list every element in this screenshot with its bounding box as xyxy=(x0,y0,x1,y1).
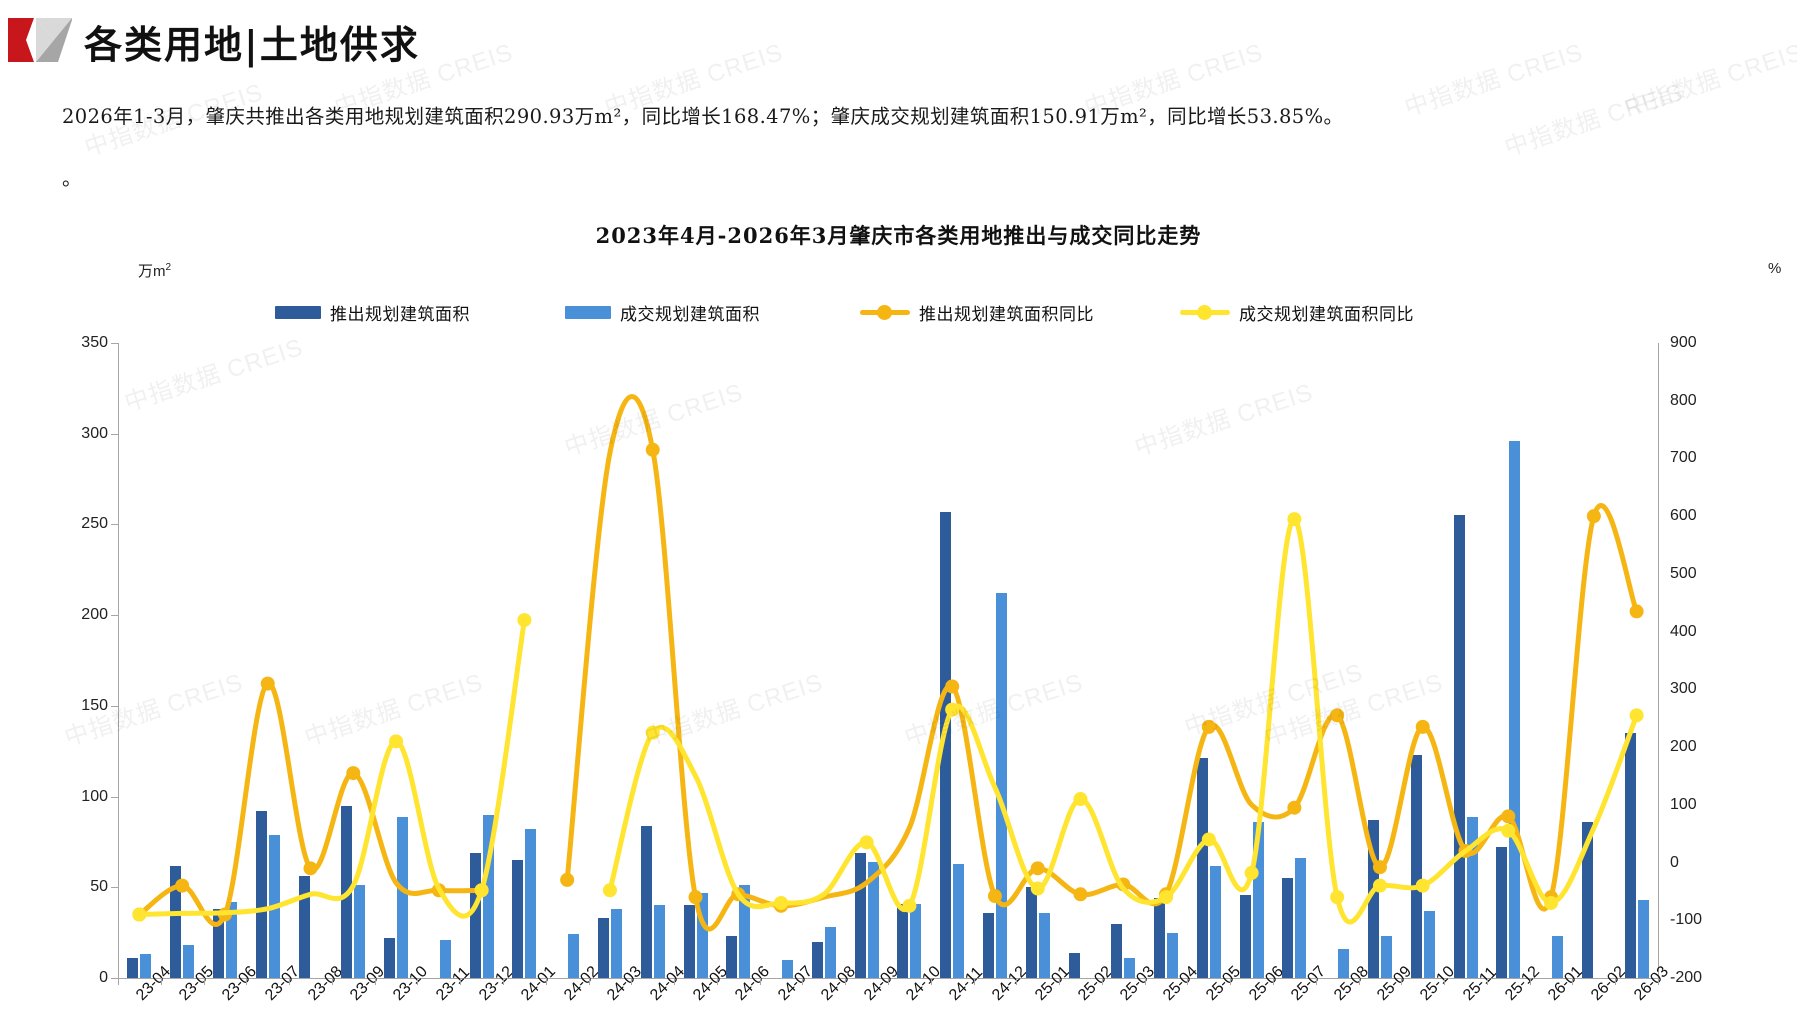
line-marker-supply-yoy xyxy=(560,873,574,887)
line-marker-supply-yoy xyxy=(175,879,189,893)
x-tick xyxy=(246,978,247,985)
x-tick xyxy=(802,978,803,985)
line-marker-deal-yoy xyxy=(603,883,617,897)
line-deal-yoy xyxy=(139,620,524,916)
x-tick xyxy=(589,978,590,985)
y-axis-right-tick-label: 500 xyxy=(1670,565,1697,583)
x-tick xyxy=(161,978,162,985)
line-supply-yoy xyxy=(139,683,481,924)
legend-item-1[interactable]: 成交规划建筑面积 xyxy=(565,297,760,327)
legend-label: 成交规划建筑面积同比 xyxy=(1239,300,1414,325)
line-marker-deal-yoy xyxy=(1287,512,1301,526)
line-marker-deal-yoy xyxy=(1544,896,1558,910)
legend-line-marker-icon xyxy=(877,305,892,320)
x-tick xyxy=(332,978,333,985)
x-tick xyxy=(118,978,119,985)
summary-paragraph-continuation: 。 xyxy=(62,162,82,191)
line-marker-supply-yoy xyxy=(1074,887,1088,901)
legend-line-swatch-icon xyxy=(1180,305,1230,319)
x-tick xyxy=(1273,978,1274,985)
line-marker-deal-yoy xyxy=(774,896,788,910)
line-marker-supply-yoy xyxy=(261,677,275,691)
x-tick xyxy=(760,978,761,985)
line-marker-deal-yoy xyxy=(945,703,959,717)
line-marker-supply-yoy xyxy=(346,766,360,780)
line-marker-supply-yoy xyxy=(1587,509,1601,523)
line-marker-deal-yoy xyxy=(1074,792,1088,806)
line-marker-supply-yoy xyxy=(689,890,703,904)
chart-container: 2023年4月-2026年3月肇庆市各类用地推出与成交同比走势 万m2 % 推出… xyxy=(0,205,1797,1005)
line-marker-deal-yoy xyxy=(1630,708,1644,722)
line-marker-deal-yoy xyxy=(517,613,531,627)
x-tick xyxy=(417,978,418,985)
legend-item-0[interactable]: 推出规划建筑面积 xyxy=(275,297,470,327)
x-tick xyxy=(845,978,846,985)
line-marker-deal-yoy xyxy=(389,734,403,748)
summary-paragraph: 2026年1-3月，肇庆共推出各类用地规划建筑面积290.93万m²，同比增长1… xyxy=(62,100,1762,134)
x-tick xyxy=(503,978,504,985)
y-axis-right-tick-label: 400 xyxy=(1670,623,1697,641)
y-axis-left-tick-label: 50 xyxy=(90,878,108,896)
x-tick xyxy=(888,978,889,985)
line-marker-deal-yoy xyxy=(1373,879,1387,893)
line-marker-deal-yoy xyxy=(132,908,146,922)
line-marker-deal-yoy xyxy=(902,899,916,913)
line-marker-supply-yoy xyxy=(1287,801,1301,815)
x-tick xyxy=(674,978,675,985)
chart-legend: 推出规划建筑面积成交规划建筑面积推出规划建筑面积同比成交规划建筑面积同比 xyxy=(275,297,1525,327)
x-tick xyxy=(1615,978,1616,985)
y-axis-right-tick-label: -200 xyxy=(1670,969,1702,987)
y-axis-right-tick-label: 300 xyxy=(1670,680,1697,698)
legend-line-swatch-icon xyxy=(860,305,910,319)
brand-logo-icon xyxy=(8,18,72,62)
x-tick xyxy=(1658,978,1659,985)
y-axis-right-tick-label: 800 xyxy=(1670,392,1697,410)
line-marker-deal-yoy xyxy=(860,835,874,849)
legend-bar-swatch-icon xyxy=(565,306,611,319)
x-tick xyxy=(1444,978,1445,985)
line-marker-supply-yoy xyxy=(1630,604,1644,618)
line-marker-deal-yoy xyxy=(1416,879,1430,893)
x-tick xyxy=(1016,978,1017,985)
line-marker-deal-yoy xyxy=(1031,882,1045,896)
x-tick xyxy=(974,978,975,985)
y-axis-right xyxy=(1658,343,1659,978)
legend-line-marker-icon xyxy=(1197,305,1212,320)
y-axis-right-tick-label: 900 xyxy=(1670,334,1697,352)
x-tick xyxy=(1316,978,1317,985)
x-tick xyxy=(931,978,932,985)
line-marker-deal-yoy xyxy=(1501,824,1515,838)
y-axis-right-tick-label: 700 xyxy=(1670,449,1697,467)
chart-title: 2023年4月-2026年3月肇庆市各类用地推出与成交同比走势 xyxy=(0,220,1797,250)
y-axis-left-tick-label: 200 xyxy=(81,606,108,624)
y-tick-left xyxy=(111,706,118,707)
x-tick xyxy=(1230,978,1231,985)
line-marker-supply-yoy xyxy=(1031,861,1045,875)
x-tick xyxy=(1059,978,1060,985)
x-tick xyxy=(1145,978,1146,985)
y-axis-right-tick-label: 100 xyxy=(1670,796,1697,814)
x-tick xyxy=(1187,978,1188,985)
legend-label: 推出规划建筑面积同比 xyxy=(919,300,1094,325)
x-tick xyxy=(717,978,718,985)
y-axis-left-tick-label: 0 xyxy=(99,969,108,987)
line-marker-deal-yoy xyxy=(646,726,660,740)
line-marker-supply-yoy xyxy=(1501,809,1515,823)
line-series-layer xyxy=(118,343,1658,978)
x-tick xyxy=(546,978,547,985)
x-tick xyxy=(1359,978,1360,985)
x-tick xyxy=(1530,978,1531,985)
y-axis-left-tick-label: 300 xyxy=(81,425,108,443)
line-marker-supply-yoy xyxy=(304,861,318,875)
line-marker-supply-yoy xyxy=(1416,720,1430,734)
y-axis-right-tick-label: 600 xyxy=(1670,507,1697,525)
x-tick xyxy=(1102,978,1103,985)
line-marker-supply-yoy xyxy=(1373,860,1387,874)
y-axis-right-tick-label: -100 xyxy=(1670,911,1702,929)
page-header: 各类用地|土地供求 xyxy=(0,0,1797,80)
line-marker-supply-yoy xyxy=(646,443,660,457)
x-tick xyxy=(460,978,461,985)
right-axis-unit-label: % xyxy=(1768,260,1781,277)
y-axis-left-tick-label: 150 xyxy=(81,697,108,715)
y-axis-right-tick-label: 200 xyxy=(1670,738,1697,756)
y-tick-left xyxy=(111,343,118,344)
page-title: 各类用地|土地供求 xyxy=(84,14,420,69)
line-deal-yoy xyxy=(610,519,1637,922)
line-marker-deal-yoy xyxy=(1159,890,1173,904)
y-axis-right-tick-label: 0 xyxy=(1670,854,1679,872)
x-tick xyxy=(1572,978,1573,985)
line-marker-supply-yoy xyxy=(1330,708,1344,722)
line-marker-deal-yoy xyxy=(1202,832,1216,846)
line-marker-supply-yoy xyxy=(988,889,1002,903)
line-marker-supply-yoy xyxy=(1202,720,1216,734)
y-tick-left xyxy=(111,434,118,435)
legend-label: 推出规划建筑面积 xyxy=(330,300,470,325)
y-tick-left xyxy=(111,978,118,979)
legend-item-2[interactable]: 推出规划建筑面积同比 xyxy=(860,297,1094,327)
line-supply-yoy xyxy=(567,397,1636,930)
x-tick xyxy=(631,978,632,985)
y-tick-left xyxy=(111,887,118,888)
line-marker-deal-yoy xyxy=(1330,890,1344,904)
legend-label: 成交规划建筑面积 xyxy=(620,300,760,325)
line-marker-deal-yoy xyxy=(1245,866,1259,880)
line-marker-deal-yoy xyxy=(475,883,489,897)
y-axis-left-tick-label: 250 xyxy=(81,515,108,533)
x-tick xyxy=(1401,978,1402,985)
legend-item-3[interactable]: 成交规划建筑面积同比 xyxy=(1180,297,1414,327)
line-marker-supply-yoy xyxy=(945,679,959,693)
plot-area: 050100150200250300350-200-10001002003004… xyxy=(118,343,1658,978)
x-tick xyxy=(1487,978,1488,985)
left-axis-unit-label: 万m2 xyxy=(138,260,171,281)
x-tick xyxy=(375,978,376,985)
y-tick-left xyxy=(111,615,118,616)
y-axis-left-tick-label: 350 xyxy=(81,334,108,352)
y-axis-left-tick-label: 100 xyxy=(81,788,108,806)
x-tick xyxy=(289,978,290,985)
legend-bar-swatch-icon xyxy=(275,306,321,319)
y-tick-left xyxy=(111,524,118,525)
x-tick xyxy=(204,978,205,985)
y-tick-left xyxy=(111,797,118,798)
